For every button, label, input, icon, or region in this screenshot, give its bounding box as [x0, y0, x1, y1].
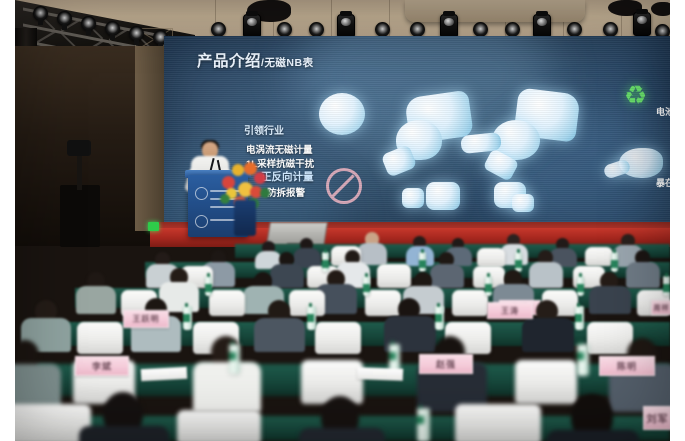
slide-title-sub: 无磁NB表 — [264, 57, 313, 69]
nameplate-text: 王跃明 — [124, 314, 168, 325]
ceiling-shadow — [651, 2, 670, 16]
table-nameplate: 赵强 — [419, 354, 473, 374]
slide-lead-line: 引领行业 — [244, 122, 284, 137]
water-bottle — [577, 344, 589, 376]
speaker-stand — [77, 150, 82, 190]
stage-light-par — [309, 22, 324, 37]
product-meter-image — [404, 90, 474, 144]
water-bottle — [322, 252, 329, 272]
water-bottle — [663, 276, 670, 296]
product-meter-image — [513, 87, 580, 142]
stage-light-par — [277, 22, 292, 37]
table-nameplate: 李斌 — [75, 356, 129, 376]
water-bottle — [575, 306, 584, 330]
water-bottle — [485, 276, 492, 296]
product-small-image — [512, 194, 534, 212]
document-paper — [357, 367, 403, 381]
nameplate-text: 周祥 — [652, 303, 670, 313]
product-disc-image — [319, 93, 365, 135]
slide-title-separator: / — [261, 57, 264, 69]
stage-light-par — [603, 22, 618, 37]
water-bottle — [363, 276, 370, 296]
water-bottle — [205, 276, 212, 296]
table-nameplate: 刘军 — [643, 406, 670, 430]
stage-light-moving-head — [337, 14, 355, 38]
audience-chair — [587, 322, 633, 354]
audience-chair — [377, 264, 411, 288]
stage-light-par — [375, 22, 390, 37]
speaker-box — [67, 140, 91, 156]
audience-chair — [77, 322, 123, 354]
stage-sidewall — [135, 46, 165, 231]
water-bottle — [417, 408, 430, 441]
stage-light-par — [211, 22, 226, 37]
conference-photo: 产品介绍/无磁NB表 引领行业 电涡流无磁计量 1L采样抗磁干扰 正反向计量 防… — [0, 0, 685, 441]
nameplate-text: 赵强 — [420, 358, 472, 371]
nameplate-text: 李斌 — [76, 360, 128, 373]
audience-chair — [452, 290, 488, 316]
nameplate-text: 刘军 — [644, 411, 670, 426]
stage-light-par — [57, 11, 72, 26]
audience-chair — [315, 322, 361, 354]
table-nameplate: 陈明 — [599, 356, 655, 376]
product-meter-nozzle — [381, 144, 418, 177]
water-bottle — [577, 276, 584, 296]
slide-title-main: 产品介绍 — [197, 53, 261, 70]
slide-feature-4: 防拆报警 — [267, 185, 305, 199]
ceiling-beam — [405, 0, 585, 22]
stage-light-par — [105, 21, 120, 36]
water-bottle — [435, 306, 444, 330]
product-small-image — [494, 182, 526, 208]
audience-chair — [477, 248, 505, 267]
stage-light-par — [410, 22, 425, 37]
nameplate-text: 王涛 — [488, 305, 532, 316]
slide-right-feature-4: 暴在 — [656, 176, 670, 189]
flower-vase — [234, 200, 256, 236]
stage-light-moving-head — [243, 14, 261, 38]
product-meter-pipe — [460, 132, 502, 154]
water-bottle — [229, 344, 240, 374]
stage-light-par — [473, 22, 488, 37]
stage-light-par — [505, 22, 520, 37]
table-nameplate: 王跃明 — [123, 310, 169, 328]
table-nameplate: 周祥 — [651, 300, 670, 315]
stage-light-par — [33, 6, 48, 21]
product-meter-image — [396, 120, 442, 160]
water-bottle — [307, 306, 316, 330]
no-magnet-icon — [326, 168, 362, 204]
recycle-icon: ♻ — [624, 82, 647, 108]
stage-light-par — [567, 22, 582, 37]
table-nameplate: 王涛 — [487, 302, 533, 319]
slide-title: 产品介绍/无磁NB表 — [197, 49, 314, 71]
exit-sign-icon — [148, 222, 159, 231]
photo-frame: 产品介绍/无磁NB表 引领行业 电涡流无磁计量 1L采样抗磁干扰 正反向计量 防… — [15, 0, 670, 441]
water-bottle — [611, 252, 618, 272]
water-bottle — [515, 252, 522, 272]
product-small-image — [426, 182, 460, 210]
product-meter-image — [492, 120, 540, 160]
product-small-image — [402, 188, 424, 208]
audience-chair — [365, 290, 401, 316]
speaker-cabinet — [60, 185, 100, 247]
water-bottle — [183, 306, 192, 330]
stage-light-par — [129, 26, 144, 41]
stage-light-moving-head — [633, 12, 651, 36]
product-meter-nozzle — [483, 148, 520, 182]
document-paper — [141, 367, 188, 381]
nameplate-text: 陈明 — [600, 360, 654, 373]
stage-light-par — [81, 16, 96, 31]
stage-light-moving-head — [440, 14, 458, 38]
slide-feature-1: 电涡流无磁计量 — [246, 142, 313, 156]
audience-chair — [515, 360, 577, 404]
product-meter-pipe — [602, 158, 631, 179]
product-meter-image — [619, 148, 663, 178]
audience-chair — [585, 247, 613, 266]
audience-chair — [177, 410, 261, 441]
water-bottle — [419, 252, 426, 272]
stage-light-moving-head — [533, 14, 551, 38]
audience-chair — [455, 404, 541, 441]
slide-right-feature-2: 电池可 — [656, 105, 670, 118]
audience-chair — [209, 290, 245, 316]
